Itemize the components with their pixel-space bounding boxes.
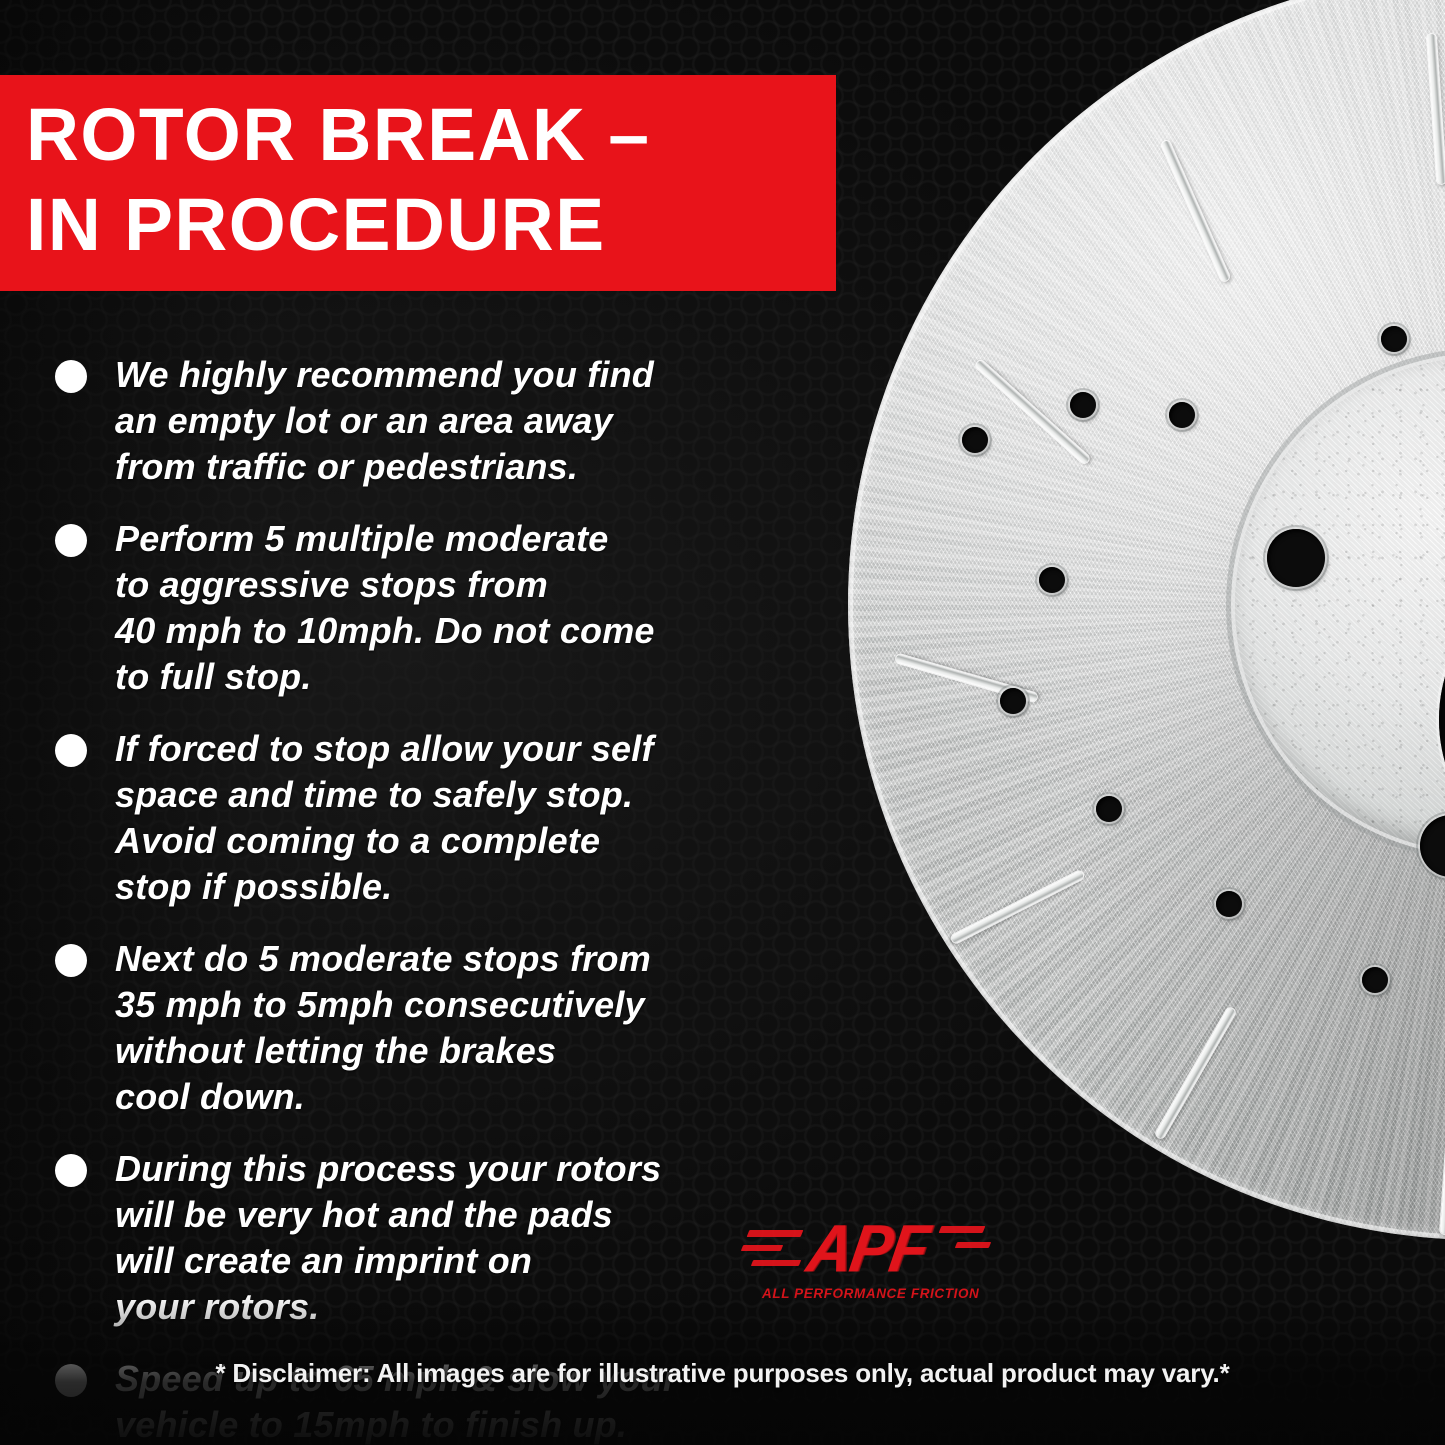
- list-item-text: Perform 5 multiple moderate to aggressiv…: [115, 516, 655, 700]
- rotor-drilled-hole: [1216, 891, 1242, 917]
- rotor-drilled-hole: [1381, 326, 1407, 352]
- logo-speed-streak: [751, 1260, 801, 1266]
- bullet-dot-icon: [55, 734, 87, 767]
- disclaimer-text: * Disclaimer: All images are for illustr…: [0, 1358, 1445, 1389]
- bullet-dot-icon: [55, 944, 87, 977]
- logo-speed-streak: [939, 1226, 986, 1233]
- title-banner: ROTOR BREAK – IN PROCEDURE: [0, 75, 836, 291]
- list-item-text: Next do 5 moderate stops from 35 mph to …: [115, 936, 651, 1120]
- logo-speed-streak: [741, 1245, 783, 1251]
- bullet-dot-icon: [55, 360, 87, 393]
- logo-speed-streak: [955, 1242, 991, 1248]
- rotor-drilled-hole: [1039, 567, 1065, 593]
- list-item: We highly recommend you find an empty lo…: [48, 352, 758, 490]
- rotor-drilled-hole: [1000, 688, 1026, 714]
- rotor-disc-group: [848, 0, 1445, 1240]
- apf-wordmark: APF: [803, 1217, 932, 1284]
- page-title-line-2: IN PROCEDURE: [26, 180, 804, 270]
- instruction-list: We highly recommend you find an empty lo…: [48, 352, 758, 1445]
- list-item: Next do 5 moderate stops from 35 mph to …: [48, 936, 758, 1120]
- poster-canvas: ROTOR BREAK – IN PROCEDURE We highly rec…: [0, 0, 1445, 1445]
- logo-speed-streak: [747, 1230, 804, 1237]
- rotor-lug-hole: [1267, 529, 1325, 587]
- bullet-dot-icon: [55, 524, 87, 557]
- rotor-drilled-hole: [1096, 796, 1122, 822]
- list-item-text: If forced to stop allow your self space …: [115, 726, 654, 910]
- list-item-text: We highly recommend you find an empty lo…: [115, 352, 654, 490]
- apf-logo-mark: APF: [762, 1218, 972, 1282]
- rotor-drilled-hole: [1070, 392, 1096, 418]
- rotor-drilled-hole: [1169, 402, 1195, 428]
- page-title-line-1: ROTOR BREAK –: [26, 90, 804, 180]
- bullet-dot-icon: [55, 1154, 87, 1187]
- list-item: If forced to stop allow your self space …: [48, 726, 758, 910]
- list-item: Perform 5 multiple moderate to aggressiv…: [48, 516, 758, 700]
